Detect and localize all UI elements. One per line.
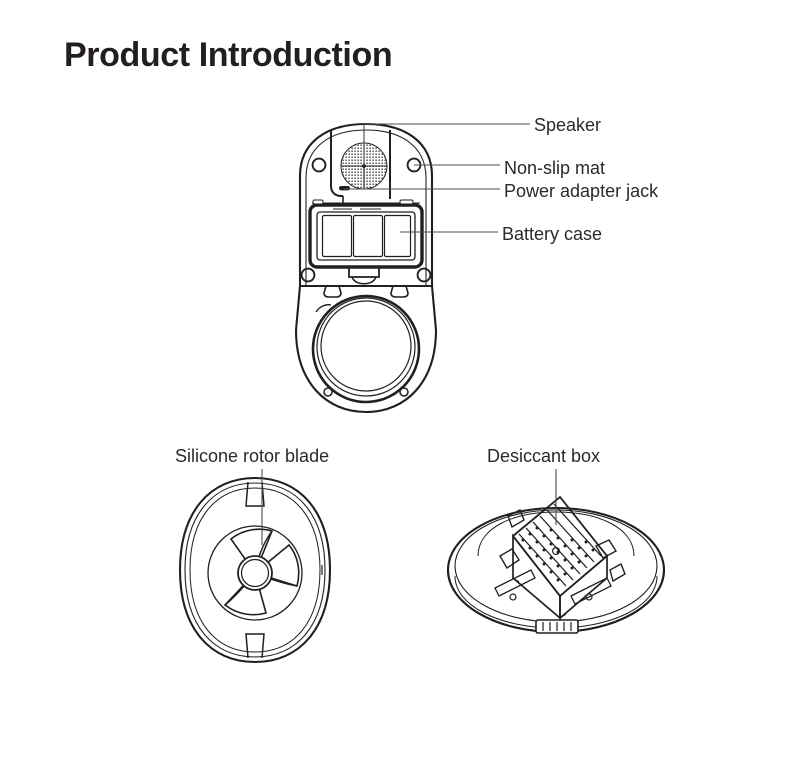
product-introduction-page: Product Introduction: [0, 0, 812, 774]
callout-label-battery-case: Battery case: [502, 225, 602, 243]
housing-screw-left: [324, 388, 332, 396]
tray-connector-block: [536, 620, 578, 633]
non-slip-mat-pad-bottom-right: [418, 269, 431, 282]
non-slip-mat-pad-bottom-left: [302, 269, 315, 282]
product-diagram-canvas: [0, 0, 812, 774]
callout-label-silicone-rotor-blade: Silicone rotor blade: [175, 447, 329, 465]
callout-label-desiccant-box: Desiccant box: [487, 447, 600, 465]
tray-bracket-left: [500, 549, 519, 568]
battery-case: [310, 200, 422, 267]
rotor-blade-view: [180, 469, 330, 662]
callout-label-non-slip-mat: Non-slip mat: [504, 159, 605, 177]
desiccant-box-clip-bottom: [610, 564, 625, 581]
battery-cell-bay-3: [385, 216, 411, 257]
desiccant-box-side-face: [513, 536, 560, 618]
non-slip-mat-pad-top-left: [313, 159, 326, 172]
main-bottom-view: [296, 124, 530, 412]
callout-label-speaker: Speaker: [534, 116, 601, 134]
power-adapter-jack: [339, 186, 350, 190]
rotor-chamber-ring-inner: [321, 301, 411, 391]
housing-tab-left: [324, 286, 341, 297]
rotor-housing-tab-bottom: [246, 634, 264, 658]
battery-cell-bay-2: [354, 216, 383, 257]
tray-rim-inner: [455, 510, 657, 622]
housing-tab-right: [391, 286, 408, 297]
housing-screw-right: [400, 388, 408, 396]
rotor-hub-outer: [238, 556, 272, 590]
rotor-chamber-ring-outer: [313, 296, 419, 402]
desiccant-box-view: [448, 469, 664, 633]
battery-cell-bay-1: [323, 216, 352, 257]
rotor-chamber-ring-mid: [317, 298, 415, 396]
rotor-housing-tab-top: [246, 482, 264, 506]
tray-screw-left: [510, 594, 516, 600]
callout-label-power-adapter-jack: Power adapter jack: [504, 182, 658, 200]
desiccant-box-vent-slots: [519, 504, 601, 586]
desiccant-box-front-face: [560, 556, 607, 618]
battery-case-latch-tab: [352, 277, 376, 284]
